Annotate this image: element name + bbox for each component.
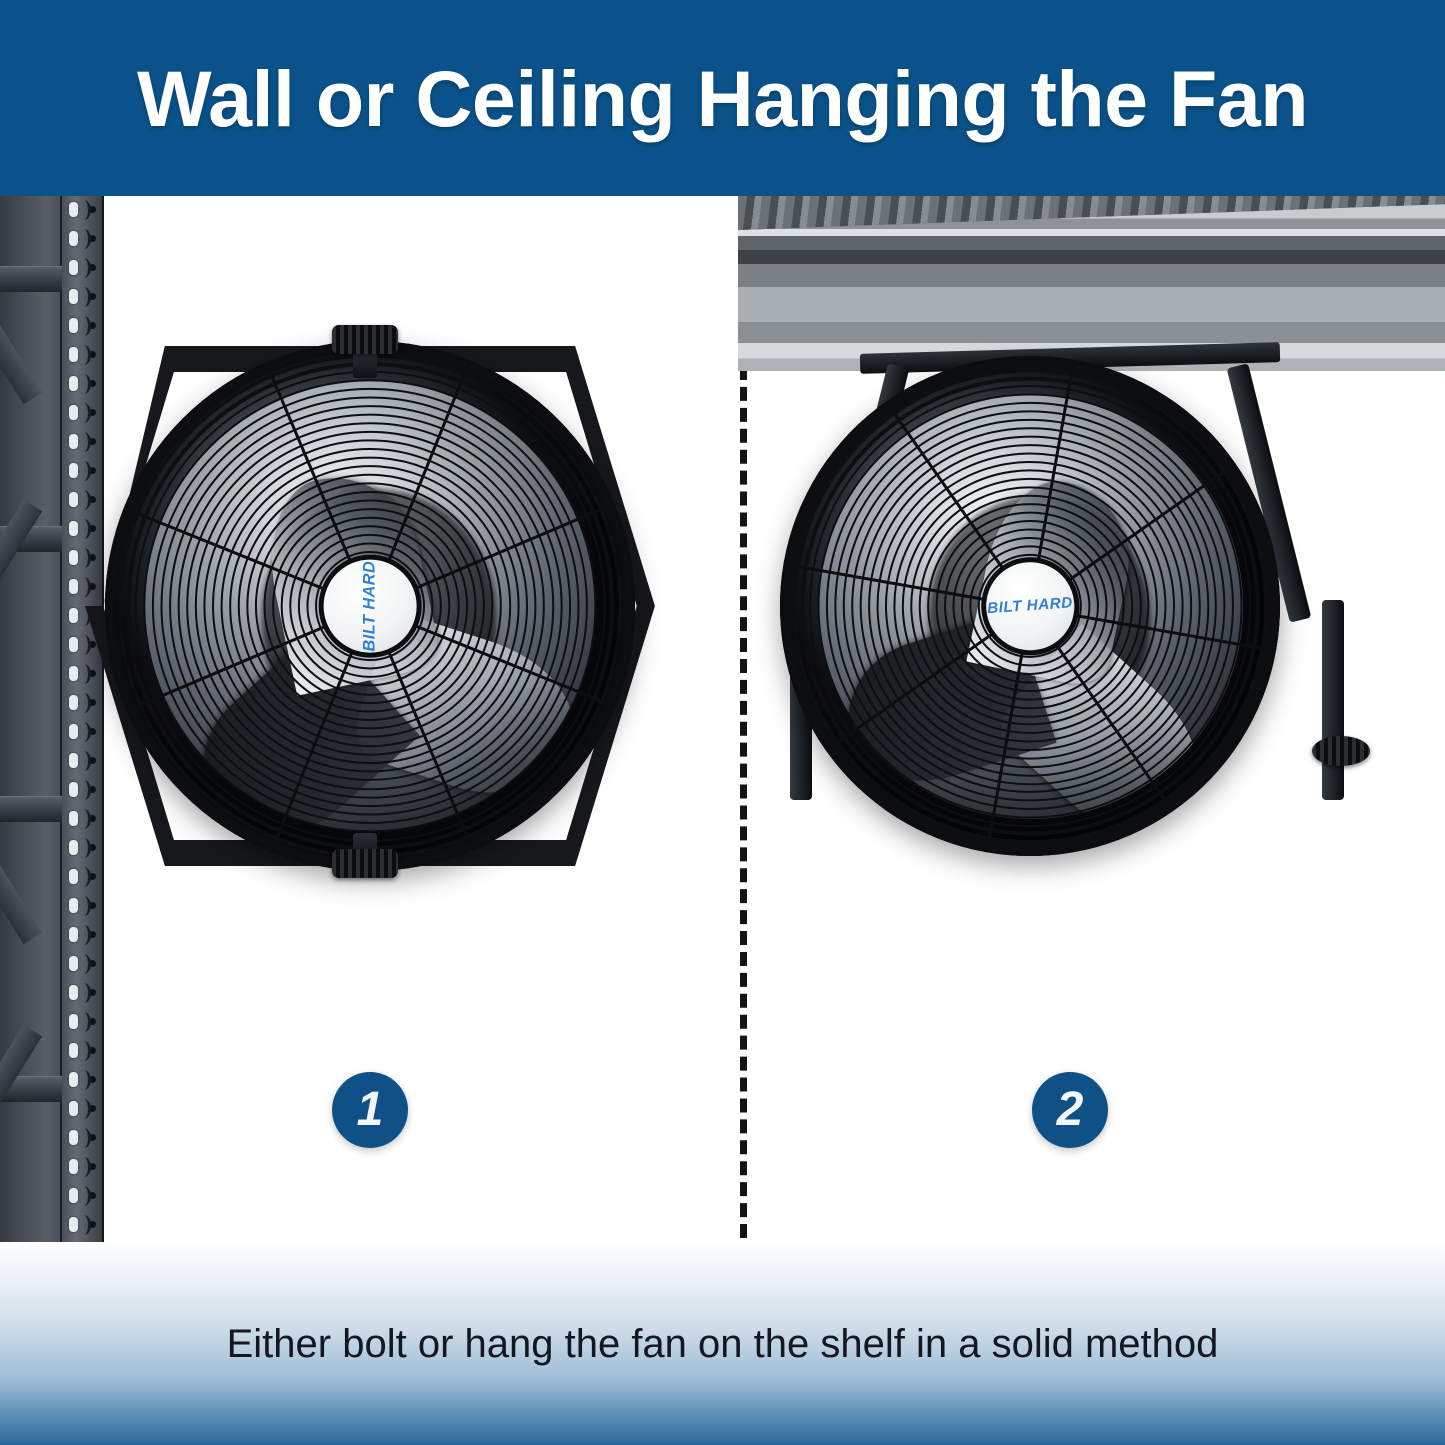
knob-stem [353, 351, 377, 378]
rack-slot [69, 695, 78, 710]
roof-shingles [738, 196, 1445, 230]
rack-brace [0, 266, 62, 292]
rack-slot [69, 666, 78, 681]
image-stage: BILT HARD BIL [0, 196, 1445, 1242]
rack-slot [69, 260, 78, 275]
rack-slot [69, 608, 78, 623]
rack-slot [69, 985, 78, 1000]
rack-diagonal-brace [0, 1025, 42, 1118]
rack-slot [69, 637, 78, 652]
rack-slot [69, 753, 78, 768]
brand-label: BILT HARD [987, 594, 1074, 618]
rack-slot [69, 840, 78, 855]
rack-slot [69, 318, 78, 333]
rack-diagonal-brace [0, 311, 42, 404]
bracket-post-right [1322, 600, 1344, 800]
rack-slot [69, 1014, 78, 1029]
tilt-adjust-knob[interactable] [1312, 736, 1370, 766]
rack-slot [69, 1072, 78, 1087]
rack-slot [69, 869, 78, 884]
rack-slot [69, 521, 78, 536]
rack-slot [69, 898, 78, 913]
fan-assembly-ceiling: BILT HARD [780, 356, 1280, 856]
fan-assembly-wall: BILT HARD [105, 341, 635, 871]
rack-slot [69, 1101, 78, 1116]
rack-slot [69, 1159, 78, 1174]
rack-slot [69, 724, 78, 739]
product-infographic: Wall or Ceiling Hanging the Fan [0, 0, 1445, 1445]
rack-slot [69, 1188, 78, 1203]
fan-hub: BILT HARD [324, 560, 417, 653]
rack-slot [69, 579, 78, 594]
fan-body: BILT HARD [105, 341, 635, 871]
rack-slot [69, 550, 78, 565]
caption-band: Either bolt or hang the fan on the shelf… [0, 1242, 1445, 1445]
rack-slot [69, 434, 78, 449]
rack-slot [69, 202, 78, 217]
rack-slot [69, 347, 78, 362]
rack-slot [69, 927, 78, 942]
step-badge-2-number: 2 [1057, 1086, 1084, 1134]
rack-slot [69, 811, 78, 826]
rack-slot [69, 782, 78, 797]
rack-slot [69, 231, 78, 246]
rack-slot [69, 492, 78, 507]
rack-slot [69, 405, 78, 420]
header-band: Wall or Ceiling Hanging the Fan [0, 0, 1445, 196]
rack-slot [69, 1130, 78, 1145]
rack-slot [69, 376, 78, 391]
brand-label: BILT HARD [361, 561, 380, 652]
step-badge-1: 1 [332, 1072, 408, 1148]
fan-body: BILT HARD [763, 339, 1297, 873]
tilt-adjust-knob[interactable] [332, 849, 398, 878]
rack-brace [0, 796, 62, 822]
rack-slot [69, 1043, 78, 1058]
caption-text: Either bolt or hang the fan on the shelf… [227, 1324, 1219, 1364]
rack-slot [69, 289, 78, 304]
storage-rack-upright [0, 196, 104, 1242]
rack-slot [69, 463, 78, 478]
page-title: Wall or Ceiling Hanging the Fan [137, 59, 1308, 138]
roof-eave [738, 196, 1445, 371]
step-badge-2: 2 [1032, 1072, 1108, 1148]
rack-diagonal-brace [0, 851, 42, 944]
rack-slot [69, 956, 78, 971]
step-badge-1-number: 1 [357, 1086, 384, 1134]
rack-slot [69, 1217, 78, 1232]
tilt-adjust-knob[interactable] [332, 325, 398, 354]
